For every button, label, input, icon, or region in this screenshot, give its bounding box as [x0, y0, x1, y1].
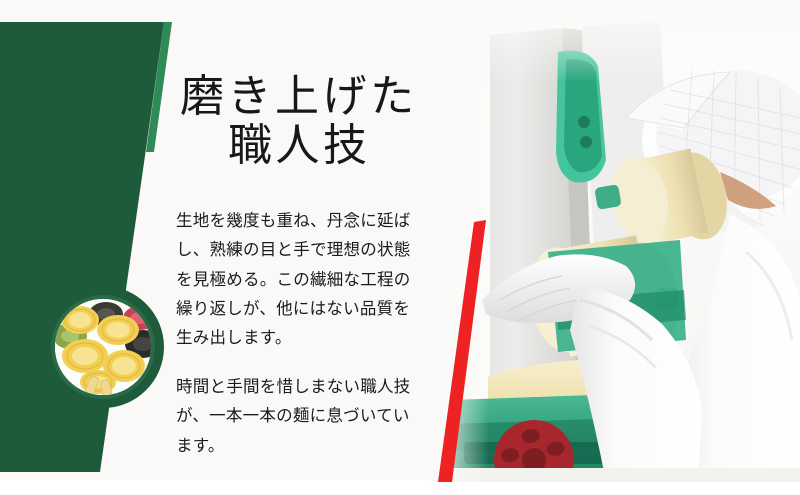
pasta-photo-image	[40, 284, 166, 410]
body-paragraph-2: 時間と手間を惜しまない職人技が、一本一本の麺に息づいています。	[176, 372, 418, 460]
page-title: 磨き上げた 職人技	[180, 72, 480, 171]
body-copy: 生地を幾度も重ね、丹念に延ばし、熟練の目と手で理想の状態を見極める。この繊細な工…	[176, 206, 418, 460]
page-title-line-1: 磨き上げた	[180, 72, 480, 121]
body-paragraph-1: 生地を幾度も重ね、丹念に延ばし、熟練の目と手で理想の状態を見極める。この繊細な工…	[176, 206, 418, 353]
factory-photo-image	[430, 0, 800, 482]
slide-canvas: 磨き上げた 職人技 生地を幾度も重ね、丹念に延ばし、熟練の目と手で理想の状態を見…	[0, 0, 800, 495]
pasta-photo-badge	[40, 284, 166, 410]
factory-photo	[430, 0, 800, 482]
page-title-line-2: 職人技	[180, 121, 480, 170]
